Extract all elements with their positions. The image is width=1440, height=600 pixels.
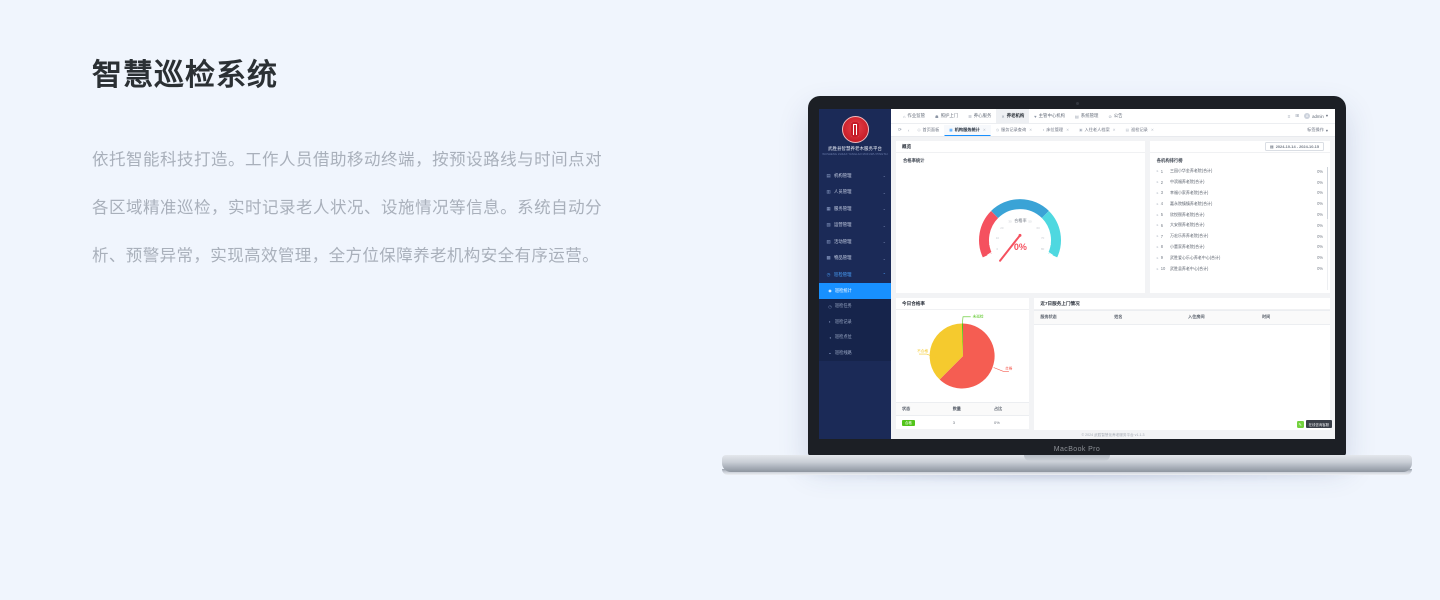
record-icon: ◐ [828, 319, 832, 324]
list-item[interactable]: ▸ 5 欣悦颐养老院(合计) 0% [1157, 209, 1323, 220]
scrollbar-thumb[interactable] [1327, 167, 1328, 219]
rank-name: 小董家养老院(合计) [1170, 244, 1303, 250]
app-content: 概览 合格率统计 [891, 137, 1335, 431]
svg-text:不合格: 不合格 [917, 348, 928, 353]
overview-card-title: 概览 [902, 144, 911, 150]
page-root: 智慧巡检系统 依托智能科技打造。工作人员借助移动终端，按预设路线与时间点对各区域… [0, 0, 1440, 600]
gauge-graphic: 010 2030 4050 6070 80 [974, 190, 1066, 268]
date-range-value: 2024-10-14 - 2024-10-15 [1276, 144, 1319, 149]
tab-dot-icon: ◎ [917, 128, 920, 132]
tab-pill-label: 服务记录查询 [1001, 127, 1026, 133]
rank-index: 6 [1161, 223, 1170, 228]
list-icon: ☰ [968, 114, 972, 119]
cell-pct: 0% [988, 416, 1029, 430]
rank-pct: 0% [1307, 201, 1323, 206]
rank-name: 中滨福养老院(合计) [1170, 179, 1303, 185]
list-item[interactable]: ▸ 10 武胜县养老中心(合计) 0% [1157, 263, 1323, 274]
svg-text:合格: 合格 [1005, 365, 1013, 370]
scrollbar-track[interactable] [1327, 167, 1328, 290]
home-icon: ⌂ [903, 114, 905, 119]
tab-pill-label: 首页面板 [923, 127, 940, 133]
svg-text:70: 70 [1041, 235, 1045, 239]
pie-card-header: 今日合格率 [896, 298, 1029, 310]
detail-card-header: 近7日服务上门情况 [1034, 298, 1330, 310]
rank-index: 5 [1161, 212, 1170, 217]
chevron-down-icon: ▾ [1326, 113, 1328, 119]
rank-index: 3 [1161, 190, 1170, 195]
gauge-label: 合格率 [974, 218, 1066, 224]
close-icon[interactable]: ✕ [983, 128, 986, 132]
topbar-right: ≡ ⊞ A admin ▾ [1288, 113, 1330, 119]
list-item[interactable]: ▸ 8 小董家养老院(合计) 0% [1157, 242, 1323, 253]
list-item[interactable]: ▸ 1 三园小华金养老院(合计) 0% [1157, 166, 1323, 177]
chevron-down-icon: ⌄ [883, 239, 886, 244]
svg-text:10: 10 [996, 235, 1000, 239]
laptop-base-notch [1024, 455, 1110, 461]
brand-name-cn: 武胜县智慧养老木服务平台 [820, 146, 889, 152]
topbar-tab-label: 养心服务 [974, 113, 992, 119]
chevron-down-icon: ⌄ [883, 206, 886, 211]
tab-dot-icon: ▦ [949, 128, 952, 132]
pie-table: 状态 数量 占比 合格 [896, 402, 1029, 430]
list-item[interactable]: ▸ 4 嘉永院镇镇养老院(合计) 0% [1157, 198, 1323, 209]
announcement-icon: ⊙ [1108, 114, 1111, 119]
laptop-lid: MacBook Pro 武胜县智慧养老木服务平台 WUSHENG ZHIHUI … [808, 96, 1346, 456]
rank-index: 8 [1161, 244, 1170, 249]
status-badge: 合格 [902, 420, 915, 426]
menu-icon[interactable]: ≡ [1288, 114, 1291, 119]
pie-chart: 未巡检 不合格 合格 [896, 310, 1029, 402]
rank-index: 1 [1161, 169, 1170, 174]
col-count: 数量 [947, 403, 988, 416]
sidebar-subitem-points[interactable]: ◑ 巡检点位 [819, 330, 891, 346]
date-range-picker[interactable]: ▦ 2024-10-14 - 2024-10-15 [1265, 142, 1324, 151]
ranking-list: ▸ 1 三园小华金养老院(合计) 0% ▸ 2 中滨福养老院(合计) [1150, 164, 1330, 293]
rank-name: 三园小华金养老院(合计) [1170, 168, 1303, 174]
cell-status: 合格 [896, 416, 947, 430]
rank-name: 幸福小家养老院(合计) [1170, 190, 1303, 196]
sidebar-item-inspection[interactable]: ◷ 巡检管理 ⌃ [819, 267, 891, 284]
calendar-icon: ▦ [1270, 144, 1274, 149]
sidebar-subitem-label: 巡检记录 [835, 319, 852, 325]
laptop-base [722, 455, 1412, 472]
sidebar-subitem-statistics[interactable]: ◉ 巡检统计 [819, 283, 891, 299]
chevron-down-icon: ⌄ [883, 256, 886, 261]
sidebar-subitem-label: 巡检任务 [835, 303, 852, 309]
chevron-down-icon: ▾ [1326, 128, 1328, 133]
topbar-tab-2[interactable]: ☰ 养心服务 [963, 109, 996, 123]
rank-name: 嘉永院镇镇养老院(合计) [1170, 201, 1303, 207]
overview-card-header: 概览 [896, 141, 1145, 153]
chevron-down-icon: ⌄ [883, 173, 886, 178]
rank-name: 欣悦颐养老院(合计) [1170, 212, 1303, 218]
sidebar-item-3[interactable]: ▧ 运营管理 ⌄ [819, 217, 891, 234]
ranking-card: ▦ 2024-10-14 - 2024-10-15 各机构排行榜 ▸ [1150, 141, 1330, 293]
tab-dot-icon: ▣ [1079, 128, 1082, 132]
users-icon: ▥ [826, 189, 831, 195]
copy-block: 智慧巡检系统 依托智能科技打造。工作人员借助移动终端，按预设路线与时间点对各区域… [92, 58, 602, 280]
app-sidebar: 武胜县智慧养老木服务平台 WUSHENG ZHIHUI YANGLAO MUFU… [819, 109, 891, 439]
col-service-status: 服务状态 [1034, 311, 1108, 324]
sidebar-item-label: 机构管理 [834, 173, 877, 179]
rank-index: 9 [1161, 255, 1170, 260]
brand-logo[interactable]: 武胜县智慧养老木服务平台 WUSHENG ZHIHUI YANGLAO MUFU… [819, 109, 891, 162]
close-icon[interactable]: ✕ [1113, 128, 1116, 132]
sidebar-item-2[interactable]: ▦ 服务管理 ⌄ [819, 201, 891, 218]
sidebar-item-0[interactable]: ▤ 机构管理 ⌄ [819, 168, 891, 185]
svg-text:未巡检: 未巡检 [972, 314, 983, 319]
rank-name: 万宏乐养养老院(合计) [1170, 233, 1303, 239]
laptop-mockup: MacBook Pro 武胜县智慧养老木服务平台 WUSHENG ZHIHUI … [722, 96, 1412, 486]
rank-pct: 0% [1307, 169, 1323, 174]
topbar-tab-label: 公告 [1114, 113, 1123, 119]
rank-index: 4 [1161, 201, 1170, 206]
institution-icon: ✕ [1001, 114, 1004, 119]
chat-icon: ✎ [1297, 421, 1304, 428]
sidebar-subitem-tasks[interactable]: ◷ 巡检任务 [819, 299, 891, 315]
col-pct: 占比 [988, 403, 1029, 416]
tab-pill-label: 机构服务统计 [955, 127, 980, 133]
sidebar-item-4[interactable]: ▨ 活动管理 ⌄ [819, 234, 891, 251]
list-item[interactable]: ▸ 6 大安颐养老院(合计) 0% [1157, 220, 1323, 231]
route-icon: ◒ [828, 350, 832, 355]
topbar-tab-label: 养老机构 [1007, 113, 1025, 119]
clock-icon: ◷ [826, 272, 831, 278]
rank-pct: 0% [1307, 180, 1323, 185]
tab-pill-label: 巡检记录 [1131, 127, 1148, 133]
tab-dot-icon: ◷ [996, 128, 999, 132]
table-row[interactable]: 合格 3 0% [896, 416, 1029, 430]
detail-table-header: 服务状态 姓名 入住房间 时间 [1034, 310, 1330, 325]
sidebar-subitem-label: 巡检线路 [835, 350, 852, 356]
gauge-chart: 010 2030 4050 6070 80 [896, 164, 1145, 293]
close-icon[interactable]: ✕ [1151, 128, 1154, 132]
tab-pill-0[interactable]: ◎ 首页面板 [912, 125, 944, 136]
task-icon: ◷ [828, 304, 832, 309]
page-description: 依托智能科技打造。工作人员借助移动终端，按预设路线与时间点对各区域精准巡检，实时… [92, 136, 602, 280]
topbar-tabs: ⌂ 作业监管 ☗ 照护上门 ☰ 养心服务 [898, 109, 1128, 123]
chevron-down-icon: ⌄ [883, 223, 886, 228]
tabbar-actions-label: 标签操作 [1307, 127, 1324, 133]
support-tooltip: 在线咨询客服 [1306, 420, 1332, 428]
app-screen: 武胜县智慧养老木服务平台 WUSHENG ZHIHUI YANGLAO MUFU… [819, 109, 1335, 439]
list-item[interactable]: ▸ 2 中滨福养老院(合计) 0% [1157, 177, 1323, 188]
rank-index: 7 [1161, 234, 1170, 239]
chevron-down-icon: ⌄ [883, 190, 886, 195]
topbar-tab-label: 作业监管 [907, 113, 925, 119]
chart-icon: ◉ [828, 288, 832, 293]
app-topbar: ⌂ 作业监管 ☗ 照护上门 ☰ 养心服务 [891, 109, 1335, 124]
brand-name-en: WUSHENG ZHIHUI YANGLAO MUFUWU PINGTAI [819, 153, 891, 156]
rank-pct: 0% [1307, 266, 1323, 271]
sidebar-item-label: 物品管理 [834, 255, 877, 261]
rank-index: 2 [1161, 180, 1170, 185]
sidebar-item-label: 服务管理 [834, 206, 877, 212]
content-row-top: 概览 合格率统计 [896, 141, 1330, 293]
content-row-bottom: 今日合格率 [896, 298, 1330, 430]
gauge-value: 0% [974, 242, 1066, 252]
col-status: 状态 [896, 403, 947, 416]
sidebar-subnav: ◉ 巡检统计 ◷ 巡检任务 ◐ 巡检记录 [819, 283, 891, 361]
rank-pct: 0% [1307, 234, 1323, 239]
topbar-tab-5[interactable]: ▤ 系统管理 [1070, 109, 1103, 123]
device-label: MacBook Pro [808, 446, 1346, 453]
support-widget[interactable]: ✎ 在线咨询客服 [1297, 420, 1332, 428]
activity-icon: ▨ [826, 239, 831, 245]
tab-dot-icon: ▤ [1126, 128, 1129, 132]
rank-pct: 0% [1307, 212, 1323, 217]
avatar: A [1304, 113, 1310, 119]
list-item[interactable]: ▸ 7 万宏乐养养老院(合计) 0% [1157, 231, 1323, 242]
topbar-tab-0[interactable]: ⌂ 作业监管 [898, 109, 930, 123]
tab-pill-statistics[interactable]: ▦ 机构服务统计 ✕ [944, 125, 991, 136]
building-icon: ▤ [826, 173, 831, 179]
tabbar-actions[interactable]: 标签操作 ▾ [1307, 127, 1331, 133]
sidebar-subitem-label: 巡检统计 [835, 288, 852, 294]
fullscreen-icon[interactable]: ⊞ [1295, 113, 1299, 119]
rank-pct: 0% [1307, 244, 1323, 249]
app-main: ⌂ 作业监管 ☗ 照护上门 ☰ 养心服务 [891, 109, 1335, 439]
tab-pill-3[interactable]: ◑ 床位管理 ✕ [1037, 125, 1074, 136]
overview-card: 概览 合格率统计 [896, 141, 1145, 293]
sidebar-subitem-records[interactable]: ◐ 巡检记录 [819, 314, 891, 330]
sidebar-nav: ▤ 机构管理 ⌄ ▥ 人员管理 ⌄ ▦ 服务管理 ⌄ [819, 168, 891, 361]
webcam-icon [1076, 102, 1079, 105]
list-item[interactable]: ▸ 3 幸福小家养老院(合计) 0% [1157, 188, 1323, 199]
svg-text:60: 60 [1037, 226, 1041, 230]
detail-card-title: 近7日服务上门情况 [1040, 301, 1079, 307]
tab-pill-label: 入住老人档案 [1085, 127, 1110, 133]
rank-name: 大安颐养老院(合计) [1170, 222, 1303, 228]
sidebar-item-label: 人员管理 [834, 189, 877, 195]
ranking-title: 各机构排行榜 [1150, 153, 1330, 164]
sidebar-item-label: 巡检管理 [834, 272, 877, 278]
sidebar-subitem-routes[interactable]: ◒ 巡检线路 [819, 345, 891, 361]
topbar-tab-1[interactable]: ☗ 照护上门 [930, 109, 963, 123]
col-time: 时间 [1256, 311, 1330, 324]
user-menu[interactable]: A admin ▾ [1304, 113, 1328, 119]
chevron-up-icon: ⌃ [883, 272, 886, 277]
topbar-tab-4[interactable]: ♥ 主管中心机构 [1029, 109, 1070, 123]
list-item[interactable]: ▸ 9 武胜爱心乐心养老中心(合计) 0% [1157, 252, 1323, 263]
door-icon: ☗ [935, 114, 939, 119]
operations-icon: ▧ [826, 222, 831, 228]
pie-card: 今日合格率 [896, 298, 1029, 430]
refresh-icon[interactable]: ⟳ [895, 127, 905, 133]
logo-icon [842, 116, 869, 143]
cell-count: 3 [947, 416, 988, 430]
col-room: 入住房间 [1182, 311, 1256, 324]
col-name: 姓名 [1108, 311, 1182, 324]
rank-pct: 0% [1307, 223, 1323, 228]
pie-card-title: 今日合格率 [902, 301, 925, 307]
sidebar-item-label: 活动管理 [834, 239, 877, 245]
service-icon: ▦ [826, 206, 831, 212]
tab-pill-5[interactable]: ▤ 巡检记录 ✕ [1121, 125, 1159, 136]
back-icon[interactable]: ‹ [905, 128, 913, 133]
ranking-card-header: ▦ 2024-10-14 - 2024-10-15 [1150, 141, 1330, 153]
topbar-tab-institutions[interactable]: ✕ 养老机构 [996, 109, 1029, 123]
user-name: admin [1312, 114, 1324, 119]
inventory-icon: ▩ [826, 255, 831, 261]
topbar-tab-label: 主管中心机构 [1039, 113, 1065, 119]
close-icon[interactable]: ✕ [1066, 128, 1069, 132]
gauge-svg: 010 2030 4050 6070 80 [974, 190, 1066, 268]
app-tabbar: ⟳ ‹ ◎ 首页面板 ▦ 机构服务统计 ✕ ◷ 服 [891, 124, 1335, 137]
topbar-tab-label: 照护上门 [941, 113, 959, 119]
rank-name: 武胜县养老中心(合计) [1170, 266, 1303, 272]
app-footer: © 2024 武胜智慧化养老服务平台 v1.1.3 [891, 431, 1335, 439]
detail-card: 近7日服务上门情况 服务状态 姓名 入住房间 时间 [1034, 298, 1330, 430]
heart-icon: ♥ [1034, 114, 1036, 119]
sidebar-item-5[interactable]: ▩ 物品管理 ⌄ [819, 250, 891, 267]
gauge-section-title: 合格率统计 [896, 153, 1145, 164]
tab-pill-2[interactable]: ◷ 服务记录查询 ✕ [991, 125, 1037, 136]
rank-index: 10 [1161, 266, 1170, 271]
close-icon[interactable]: ✕ [1029, 128, 1032, 132]
rank-name: 武胜爱心乐心养老中心(合计) [1170, 255, 1303, 261]
tab-dot-icon: ◑ [1042, 128, 1044, 132]
topbar-tab-6[interactable]: ⊙ 公告 [1103, 109, 1127, 123]
settings-icon: ▤ [1075, 114, 1079, 119]
table-header-row: 状态 数量 占比 [896, 403, 1029, 416]
sidebar-subitem-label: 巡检点位 [835, 334, 852, 340]
rank-pct: 0% [1307, 255, 1323, 260]
pie-svg: 未巡检 不合格 合格 [915, 312, 1011, 400]
tab-pill-4[interactable]: ▣ 入住老人档案 ✕ [1074, 125, 1121, 136]
page-title: 智慧巡检系统 [92, 58, 602, 94]
svg-text:20: 20 [1001, 226, 1005, 230]
rank-pct: 0% [1307, 190, 1323, 195]
sidebar-item-1[interactable]: ▥ 人员管理 ⌄ [819, 184, 891, 201]
tab-pill-label: 床位管理 [1046, 127, 1063, 133]
topbar-tab-label: 系统管理 [1081, 113, 1099, 119]
point-icon: ◑ [828, 335, 832, 340]
sidebar-item-label: 运营管理 [834, 222, 877, 228]
